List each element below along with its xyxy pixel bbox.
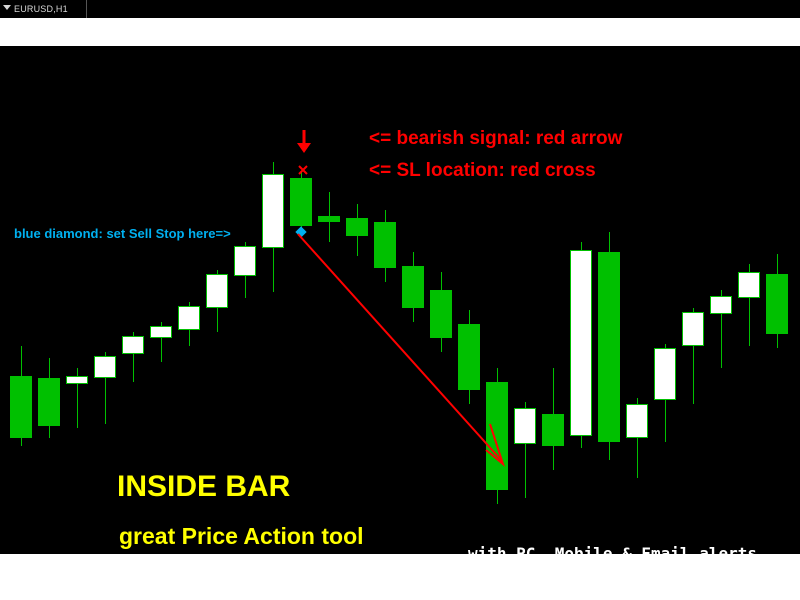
- candle: [94, 46, 116, 554]
- candle: [514, 46, 536, 554]
- candle: [486, 46, 508, 554]
- candle-body: [178, 306, 200, 330]
- candle-body: [38, 378, 60, 426]
- candle: [654, 46, 676, 554]
- candle-body: [402, 266, 424, 308]
- candle-body: [710, 296, 732, 314]
- candle-body: [570, 250, 592, 436]
- symbol-label: EURUSD,H1: [14, 0, 68, 18]
- candle: [738, 46, 760, 554]
- candle-body: [262, 174, 284, 248]
- chevron-down-icon[interactable]: [3, 5, 11, 10]
- candle: [542, 46, 564, 554]
- alerts-label: with PC, Mobile & Email alerts: [468, 544, 757, 554]
- candle-body: [514, 408, 536, 444]
- down-arrow-icon: [295, 130, 313, 154]
- subheadline-label: great Price Action tool: [119, 523, 364, 550]
- candle: [626, 46, 648, 554]
- candle: [402, 46, 424, 554]
- candle-body: [150, 326, 172, 338]
- candle: [570, 46, 592, 554]
- candlestick-chart[interactable]: <= bearish signal: red arrow <= SL locat…: [0, 46, 800, 554]
- sell-stop-label: blue diamond: set Sell Stop here=>: [14, 226, 231, 241]
- candle: [374, 46, 396, 554]
- candle-body: [682, 312, 704, 346]
- candle: [766, 46, 788, 554]
- candle: [318, 46, 340, 554]
- candle-body: [626, 404, 648, 438]
- candle: [458, 46, 480, 554]
- cross-icon: [297, 164, 309, 176]
- candle: [290, 46, 312, 554]
- candle: [38, 46, 60, 554]
- candle-body: [290, 178, 312, 226]
- sl-location-label: <= SL location: red cross: [369, 160, 596, 182]
- candle-body: [486, 382, 508, 490]
- candle-body: [766, 274, 788, 334]
- candle: [682, 46, 704, 554]
- chart-window-titlebar: EURUSD,H1: [0, 0, 800, 18]
- candle: [598, 46, 620, 554]
- headline-label: INSIDE BAR: [117, 470, 290, 504]
- candle-body: [654, 348, 676, 400]
- titlebar-divider: [86, 0, 87, 18]
- candle: [346, 46, 368, 554]
- bearish-signal-label: <= bearish signal: red arrow: [369, 128, 622, 150]
- screenshot-root: EURUSD,H1 <= bearish signal: re: [0, 0, 800, 600]
- candle: [710, 46, 732, 554]
- candle: [10, 46, 32, 554]
- candle-body: [738, 272, 760, 298]
- candle-body: [458, 324, 480, 390]
- candle-body: [66, 376, 88, 384]
- candle-body: [318, 216, 340, 222]
- candle-body: [598, 252, 620, 442]
- candle-body: [234, 246, 256, 276]
- candle-body: [206, 274, 228, 308]
- candle-body: [430, 290, 452, 338]
- candle-body: [374, 222, 396, 268]
- candle: [66, 46, 88, 554]
- candle-body: [122, 336, 144, 354]
- candle-body: [94, 356, 116, 378]
- candle-body: [346, 218, 368, 236]
- candle-body: [10, 376, 32, 438]
- candle-body: [542, 414, 564, 446]
- candle: [430, 46, 452, 554]
